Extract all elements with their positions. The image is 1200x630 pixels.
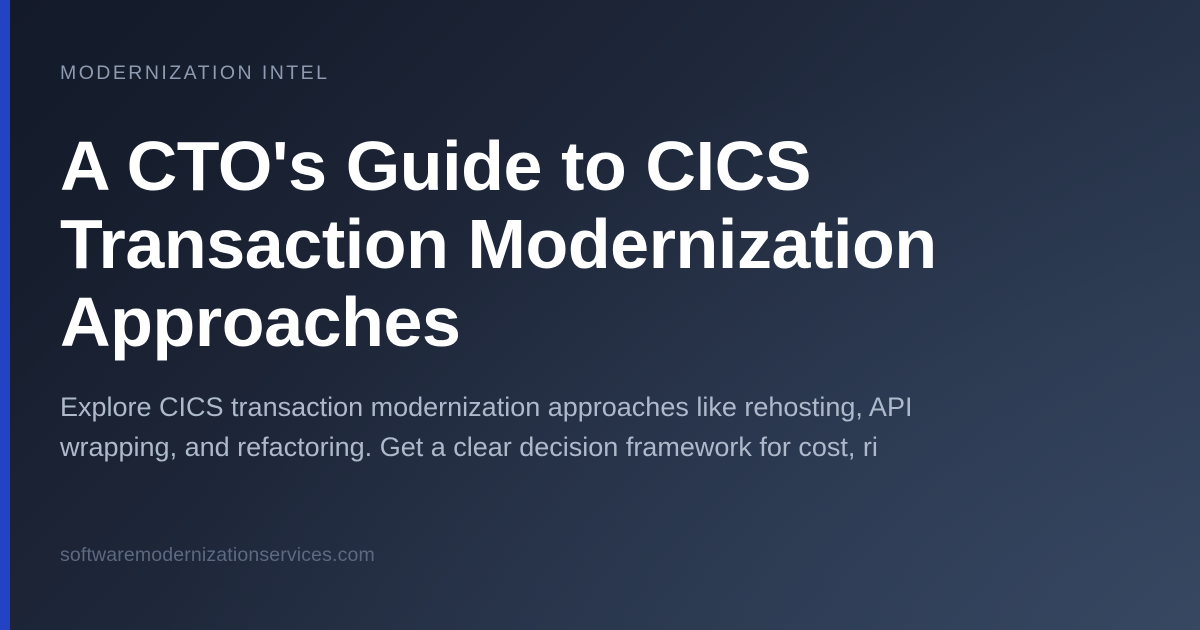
card-content: MODERNIZATION INTEL A CTO's Guide to CIC… — [60, 0, 1060, 630]
social-share-card: MODERNIZATION INTEL A CTO's Guide to CIC… — [0, 0, 1200, 630]
left-accent-bar — [0, 0, 10, 630]
page-subtitle: Explore CICS transaction modernization a… — [60, 387, 965, 467]
eyebrow-label: MODERNIZATION INTEL — [60, 62, 329, 85]
footer-domain-label: softwaremodernizationservices.com — [60, 544, 375, 567]
page-title: A CTO's Guide to CICS Transaction Modern… — [60, 127, 960, 361]
